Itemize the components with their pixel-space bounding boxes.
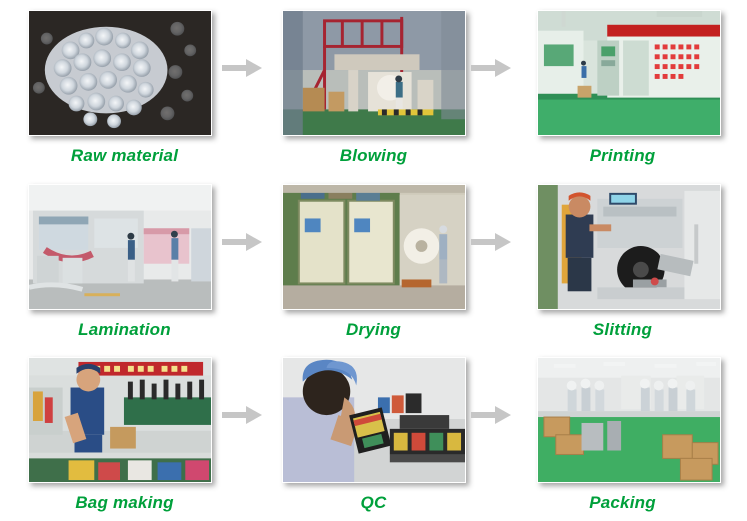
right-arrow-icon: [471, 404, 511, 426]
packing-photo[interactable]: [537, 357, 721, 483]
right-arrow-icon: [222, 404, 262, 426]
process-row-2: Lamination: [0, 174, 747, 348]
process-row-1: Raw material: [0, 0, 747, 174]
step-label-lamination: Lamination: [78, 321, 171, 338]
flow-arrow-8: [470, 403, 512, 427]
process-step-blowing[interactable]: Blowing: [249, 0, 498, 174]
process-step-lamination[interactable]: Lamination: [0, 174, 249, 348]
flow-arrow-4: [221, 230, 263, 254]
step-label-bag-making: Bag making: [75, 494, 173, 511]
qc-photo-wrap: [282, 357, 466, 483]
bag-making-photo-wrap: [28, 357, 212, 483]
raw-material-photo[interactable]: [28, 10, 212, 136]
step-label-drying: Drying: [346, 321, 401, 338]
step-label-qc: QC: [361, 494, 387, 511]
packing-photo-wrap: [537, 357, 721, 483]
process-flow-grid: Raw material: [0, 0, 747, 521]
flow-arrow-1: [221, 56, 263, 80]
flow-arrow-2: [470, 56, 512, 80]
lamination-photo-wrap: [28, 184, 212, 310]
right-arrow-icon: [222, 57, 262, 79]
qc-photo[interactable]: [282, 357, 466, 483]
right-arrow-icon: [471, 57, 511, 79]
step-label-raw-material: Raw material: [71, 147, 178, 164]
flow-arrow-7: [221, 403, 263, 427]
printing-photo-wrap: [537, 10, 721, 136]
printing-photo[interactable]: [537, 10, 721, 136]
right-arrow-icon: [471, 231, 511, 253]
process-step-slitting[interactable]: Slitting: [498, 174, 747, 348]
step-label-slitting: Slitting: [593, 321, 652, 338]
process-step-raw-material[interactable]: Raw material: [0, 0, 249, 174]
process-step-packing[interactable]: Packing: [498, 347, 747, 521]
drying-photo-wrap: [282, 184, 466, 310]
lamination-photo[interactable]: [28, 184, 212, 310]
raw-material-photo-wrap: [28, 10, 212, 136]
step-label-printing: Printing: [590, 147, 656, 164]
step-label-packing: Packing: [589, 494, 656, 511]
slitting-photo-wrap: [537, 184, 721, 310]
process-step-drying[interactable]: Drying: [249, 174, 498, 348]
process-step-bag-making[interactable]: Bag making: [0, 347, 249, 521]
bag-making-photo[interactable]: [28, 357, 212, 483]
right-arrow-icon: [222, 231, 262, 253]
process-step-printing[interactable]: Printing: [498, 0, 747, 174]
process-row-3: Bag making: [0, 347, 747, 521]
drying-photo[interactable]: [282, 184, 466, 310]
blowing-photo[interactable]: [282, 10, 466, 136]
blowing-photo-wrap: [282, 10, 466, 136]
flow-arrow-5: [470, 230, 512, 254]
step-label-blowing: Blowing: [340, 147, 408, 164]
slitting-photo[interactable]: [537, 184, 721, 310]
process-step-qc[interactable]: QC: [249, 347, 498, 521]
